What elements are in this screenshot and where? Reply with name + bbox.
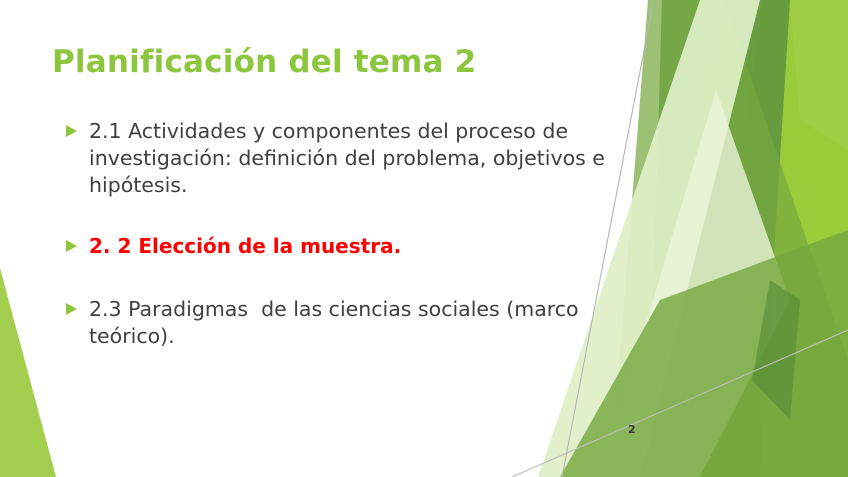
bullet-text-2-2: 2. 2 Elección de la muestra. xyxy=(89,233,401,260)
medium-green-triangle xyxy=(610,0,848,477)
triangle-bullet-icon xyxy=(66,240,78,253)
triangle-bullet-icon xyxy=(66,125,78,138)
dark-center-triangle xyxy=(752,280,800,420)
bullet-text-2-3: 2.3 Paradigmas de las ciencias sociales … xyxy=(89,296,638,350)
upper-right-light-slice xyxy=(790,0,848,150)
list-item: 2.3 Paradigmas de las ciencias sociales … xyxy=(66,296,638,350)
list-item: 2. 2 Elección de la muestra. xyxy=(66,233,638,260)
left-green-wedge xyxy=(0,268,56,477)
bullet-list: 2.1 Actividades y componentes del proces… xyxy=(66,118,638,350)
slide-planificacion-tema-2: Planificación del tema 2 2.1 Actividades… xyxy=(0,0,848,477)
triangle-bullet-icon xyxy=(66,303,78,316)
list-item: 2.1 Actividades y componentes del proces… xyxy=(66,118,638,199)
dark-olive-wedge xyxy=(648,0,790,477)
page-title: Planificación del tema 2 xyxy=(52,44,476,80)
right-bright-triangle xyxy=(620,0,848,477)
bullet-text-2-1: 2.1 Actividades y componentes del proces… xyxy=(89,118,638,199)
thin-gray-line-shallow xyxy=(512,330,848,477)
right-bright-band xyxy=(700,0,848,477)
page-number: 2 xyxy=(628,423,636,436)
